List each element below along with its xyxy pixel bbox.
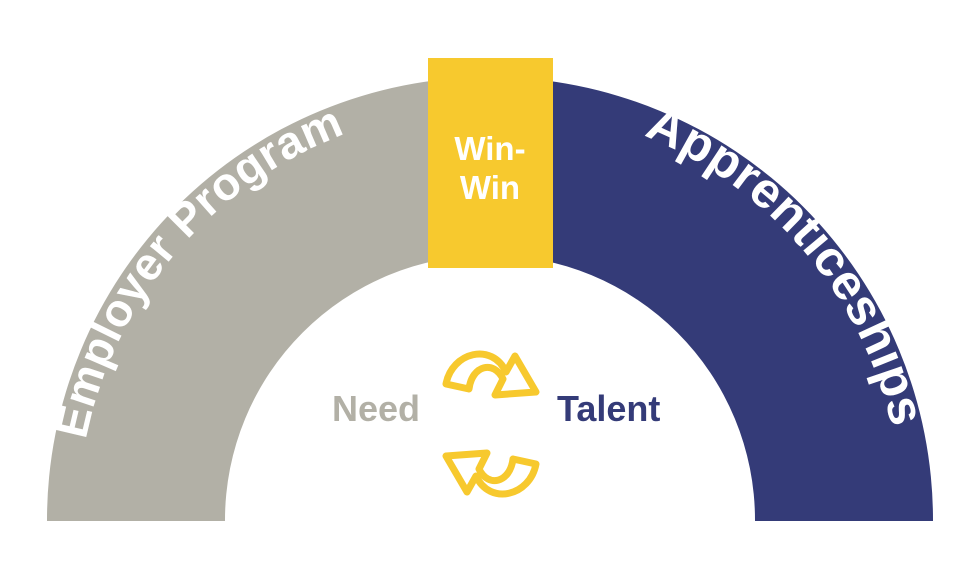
curved-arrow-right-icon [446, 354, 536, 395]
keystone-label-line2: Win [460, 169, 520, 206]
arch-diagram-svg: Employer Program Apprenticeships Win- Wi… [0, 0, 980, 572]
two-way-curved-arrows-icon [446, 354, 536, 494]
left-arch-segment[interactable]: Employer Program [45, 77, 490, 521]
need-label: Need [332, 388, 420, 429]
curved-arrow-left-icon [446, 453, 536, 494]
keystone-block[interactable]: Win- Win [428, 58, 553, 268]
keystone-label-line1: Win- [454, 130, 525, 167]
right-arch-segment[interactable]: Apprenticeships [490, 77, 936, 521]
talent-label: Talent [557, 388, 660, 429]
diagram-canvas: Employer Program Apprenticeships Win- Wi… [0, 0, 980, 572]
